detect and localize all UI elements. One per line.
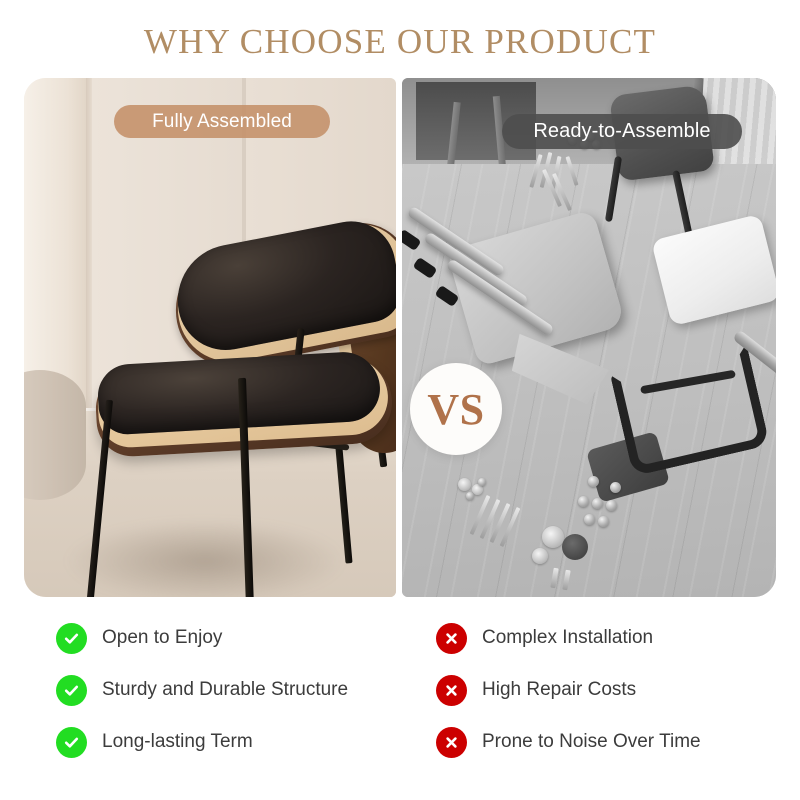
panel-ready-to-assemble: Ready-to-Assemble — [402, 78, 776, 597]
cons-column: Complex Installation High Repair Costs P… — [436, 612, 796, 768]
list-item: Long-lasting Term — [56, 716, 416, 768]
check-circle-icon — [56, 623, 87, 654]
list-item-label: Prone to Noise Over Time — [482, 731, 701, 753]
pros-column: Open to Enjoy Sturdy and Durable Structu… — [56, 612, 416, 768]
page-title: WHY CHOOSE OUR PRODUCT — [0, 22, 800, 62]
feature-lists: Open to Enjoy Sturdy and Durable Structu… — [0, 612, 800, 782]
part-nut — [478, 478, 486, 486]
part-washer — [458, 478, 471, 491]
assembled-chair-photo — [24, 78, 396, 597]
part-nut — [584, 514, 595, 525]
comparison-panels: Fully Assembled — [24, 78, 776, 597]
x-circle-icon — [436, 675, 467, 706]
part-nut — [610, 482, 621, 493]
infographic-page: WHY CHOOSE OUR PRODUCT — [0, 0, 800, 800]
list-item: High Repair Costs — [436, 664, 796, 716]
check-circle-icon — [56, 675, 87, 706]
badge-fully-assembled: Fully Assembled — [114, 105, 330, 138]
part-nut — [466, 492, 474, 500]
part-washer — [542, 526, 564, 548]
vs-badge: VS — [410, 363, 502, 455]
list-item-label: Complex Installation — [482, 627, 653, 649]
part-washer — [532, 548, 548, 564]
list-item-label: Sturdy and Durable Structure — [102, 679, 348, 701]
x-circle-icon — [436, 727, 467, 758]
part-nut — [578, 496, 589, 507]
list-item: Open to Enjoy — [56, 612, 416, 664]
list-item: Prone to Noise Over Time — [436, 716, 796, 768]
list-item-label: High Repair Costs — [482, 679, 636, 701]
part-nut — [588, 476, 599, 487]
chair-illustration — [24, 78, 396, 597]
list-item-label: Long-lasting Term — [102, 731, 253, 753]
badge-ready-to-assemble: Ready-to-Assemble — [502, 114, 742, 149]
list-item: Complex Installation — [436, 612, 796, 664]
x-circle-icon — [436, 623, 467, 654]
check-circle-icon — [56, 727, 87, 758]
panel-fully-assembled: Fully Assembled — [24, 78, 396, 597]
disassembled-parts-photo — [402, 78, 776, 597]
part-nut — [598, 516, 609, 527]
part-nut — [606, 500, 617, 511]
list-item: Sturdy and Durable Structure — [56, 664, 416, 716]
part-nut — [592, 498, 603, 509]
list-item-label: Open to Enjoy — [102, 627, 222, 649]
part-washer-dark — [562, 534, 588, 560]
